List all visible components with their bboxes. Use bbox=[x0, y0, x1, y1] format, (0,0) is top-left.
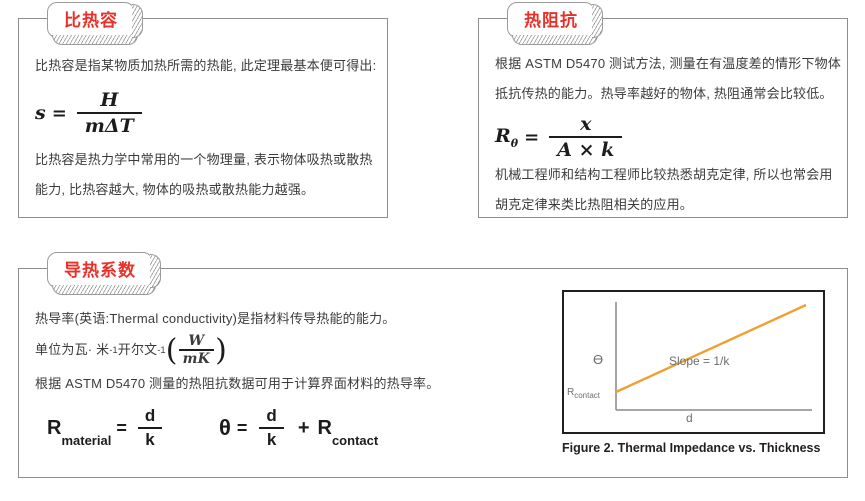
formula-fraction: x A × k bbox=[549, 113, 622, 161]
tab-label: 热阻抗 bbox=[524, 12, 578, 29]
units-mid: 开尔文 bbox=[118, 335, 158, 365]
fraction-numerator: d bbox=[259, 406, 283, 427]
tab-hatch-bottom bbox=[52, 35, 138, 45]
fraction-denominator: A × k bbox=[549, 138, 622, 161]
formula-lhs-symbol: R bbox=[47, 417, 61, 440]
units-line: 单位为瓦· 米-1开尔文-1 ( W mK ) bbox=[35, 334, 227, 367]
paragraph-line: 热导率(英语:Thermal conductivity)是指材料传导热能的能力。 bbox=[35, 304, 395, 334]
formula-lhs: s bbox=[35, 102, 46, 124]
tab-thermal-conductivity: 导热系数 bbox=[47, 252, 153, 288]
formula-lhs-symbol: R bbox=[495, 125, 511, 147]
fraction-denominator: mK bbox=[179, 351, 214, 367]
paragraph-line: 胡克定律来类比热阻相关的应用。 bbox=[495, 190, 693, 220]
formula-fraction: H mΔT bbox=[77, 89, 142, 137]
fraction-denominator: k bbox=[260, 429, 283, 450]
y-intercept-subscript: contact bbox=[574, 391, 600, 400]
paragraph-line: 能力, 比热容越大, 物体的吸热或散热能力越强。 bbox=[35, 175, 314, 205]
formula-plus: + bbox=[298, 417, 310, 440]
tab-specific-heat: 比热容 bbox=[47, 2, 135, 38]
fraction-numerator: x bbox=[572, 113, 599, 136]
formula-equals: = bbox=[116, 418, 127, 439]
tab-hatch-right bbox=[150, 254, 161, 288]
tab-thermal-impedance: 热阻抗 bbox=[507, 2, 595, 38]
chart-annotation-slope: Slope = 1/k bbox=[669, 354, 729, 368]
units-superscript-1: -1 bbox=[109, 335, 117, 365]
panel-specific-heat: 比热容 比热容是指某物质加热所需的热能, 此定理最基本便可得出: s = H m… bbox=[18, 18, 388, 218]
y-axis-label: Ɵ bbox=[593, 352, 603, 367]
formula-tail-subscript: contact bbox=[332, 433, 378, 450]
tab-hatch-right bbox=[132, 4, 143, 38]
paragraph-line: 比热容是热力学中常用的一个物理量, 表示物体吸热或散热 bbox=[35, 145, 373, 175]
paragraph-line: 抵抗传热的能力。热导率越好的物体, 热阻通常会比较低。 bbox=[495, 79, 833, 109]
formula-tail-symbol: R bbox=[318, 417, 332, 440]
formula-fraction: d k bbox=[138, 406, 162, 450]
formula-specific-heat: s = H mΔT bbox=[35, 89, 142, 137]
paragraph-line: 机械工程师和结构工程师比较热悉胡克定律, 所以也常会用 bbox=[495, 160, 833, 190]
tab-hatch-bottom bbox=[512, 35, 598, 45]
x-axis-label: d bbox=[686, 411, 693, 425]
formula-fraction: d k bbox=[259, 406, 283, 450]
panel-thermal-conductivity: 导热系数 热导率(英语:Thermal conductivity)是指材料传导热… bbox=[18, 268, 848, 478]
formula-equals: = bbox=[52, 103, 67, 124]
formula-r-material: R material = d k bbox=[47, 406, 168, 450]
formula-theta: θ = d k + R contact bbox=[219, 406, 378, 450]
y-intercept-label: Rcontact bbox=[567, 387, 600, 400]
formula-lhs-subscript: material bbox=[61, 433, 111, 450]
chart-thermal-impedance: Ɵ Rcontact d Slope = 1/k bbox=[562, 290, 825, 434]
formula-thermal-impedance: Rθ = x A × k bbox=[495, 113, 622, 161]
fraction-numerator: W bbox=[184, 334, 208, 349]
tab-hatch-right bbox=[592, 4, 603, 38]
paragraph-line: 根据 ASTM D5470 测量的热阻抗数据可用于计算界面材料的热导率。 bbox=[35, 369, 439, 399]
fraction-numerator: d bbox=[138, 406, 162, 427]
panel-thermal-impedance: 热阻抗 根据 ASTM D5470 测试方法, 测量在有温度差的情形下物体 抵抗… bbox=[478, 18, 848, 218]
formula-equals: = bbox=[524, 127, 539, 148]
units-fraction: W mK bbox=[179, 334, 214, 367]
fraction-denominator: mΔT bbox=[77, 114, 142, 137]
formula-lhs-symbol: θ bbox=[219, 415, 231, 441]
paragraph-line: 根据 ASTM D5470 测试方法, 测量在有温度差的情形下物体 bbox=[495, 49, 841, 79]
fraction-numerator: H bbox=[92, 89, 126, 112]
formula-lhs-subscript: θ bbox=[511, 136, 518, 149]
paragraph-line: 比热容是指某物质加热所需的热能, 此定理最基本便可得出: bbox=[35, 51, 376, 81]
formula-lhs: Rθ bbox=[495, 125, 518, 150]
tab-label: 导热系数 bbox=[64, 262, 136, 279]
fraction-denominator: k bbox=[138, 429, 161, 450]
units-superscript-2: -1 bbox=[157, 335, 165, 365]
units-prefix: 单位为瓦· 米 bbox=[35, 335, 109, 365]
formula-equals: = bbox=[237, 418, 248, 439]
tab-label: 比热容 bbox=[64, 12, 118, 29]
chart-caption: Figure 2. Thermal Impedance vs. Thicknes… bbox=[562, 441, 820, 455]
chart-line-series-1 bbox=[616, 305, 806, 392]
tab-hatch-bottom bbox=[52, 285, 156, 295]
